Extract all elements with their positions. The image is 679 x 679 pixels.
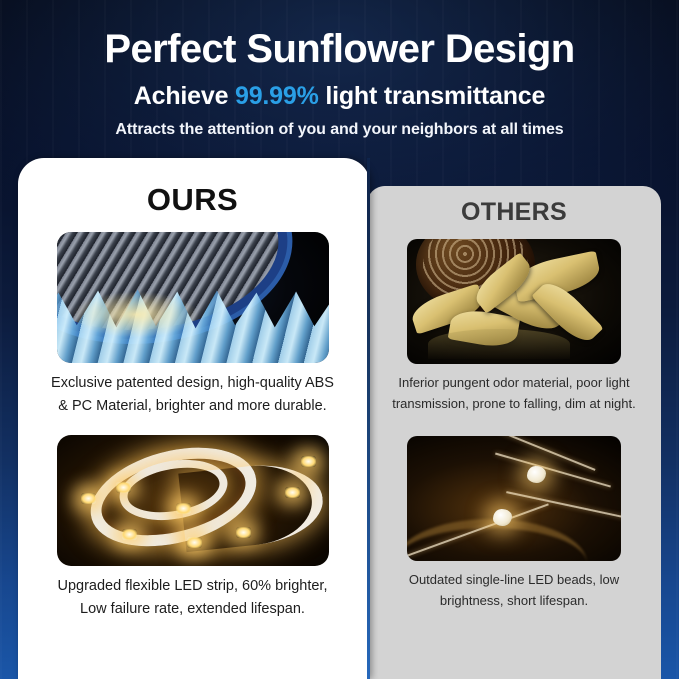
page-title: Perfect Sunflower Design — [0, 26, 679, 72]
led-dot — [116, 482, 131, 493]
led-dot — [187, 537, 202, 548]
flower-stem — [428, 329, 569, 359]
others-comparison-card: OTHERS Inferior pungent odor material, p… — [367, 186, 661, 679]
tagline: Attracts the attention of you and your n… — [0, 121, 679, 139]
others-caption-1: Inferior pungent odor material, poor lig… — [383, 364, 645, 414]
others-caption-2: Outdated single-line LED beads, low brig… — [383, 561, 645, 611]
others-heading: OTHERS — [383, 200, 645, 225]
led-dot — [285, 487, 300, 498]
led-dot — [236, 527, 251, 538]
led-bead — [527, 466, 546, 483]
blue-sunflower-lamp-photo — [57, 232, 329, 363]
ours-caption-1: Exclusive patented design, high-quality … — [42, 363, 343, 419]
ours-caption-2: Upgraded flexible LED strip, 60% brighte… — [42, 566, 343, 622]
subtitle-prefix: Achieve — [134, 82, 235, 110]
banner-header: Perfect Sunflower Design Achieve 99.99% … — [0, 0, 679, 139]
ours-comparison-card: OURS Exclusive patented design, high-qua… — [18, 158, 370, 679]
subtitle: Achieve 99.99% light transmittance — [0, 82, 679, 111]
transmittance-value: 99.99% — [235, 82, 319, 110]
subtitle-suffix: light transmittance — [319, 82, 546, 110]
led-dot — [301, 456, 316, 467]
led-dot — [81, 493, 96, 504]
led-dot — [122, 529, 137, 540]
warm-led-strip-photo — [57, 435, 329, 566]
wilting-yellow-sunflower-photo — [407, 239, 621, 364]
led-bead — [493, 509, 512, 526]
ours-heading: OURS — [42, 184, 343, 215]
led-dot — [176, 503, 191, 514]
lamp-glow — [73, 292, 198, 337]
promo-banner: Perfect Sunflower Design Achieve 99.99% … — [0, 0, 679, 679]
single-line-led-beads-photo — [407, 436, 621, 561]
